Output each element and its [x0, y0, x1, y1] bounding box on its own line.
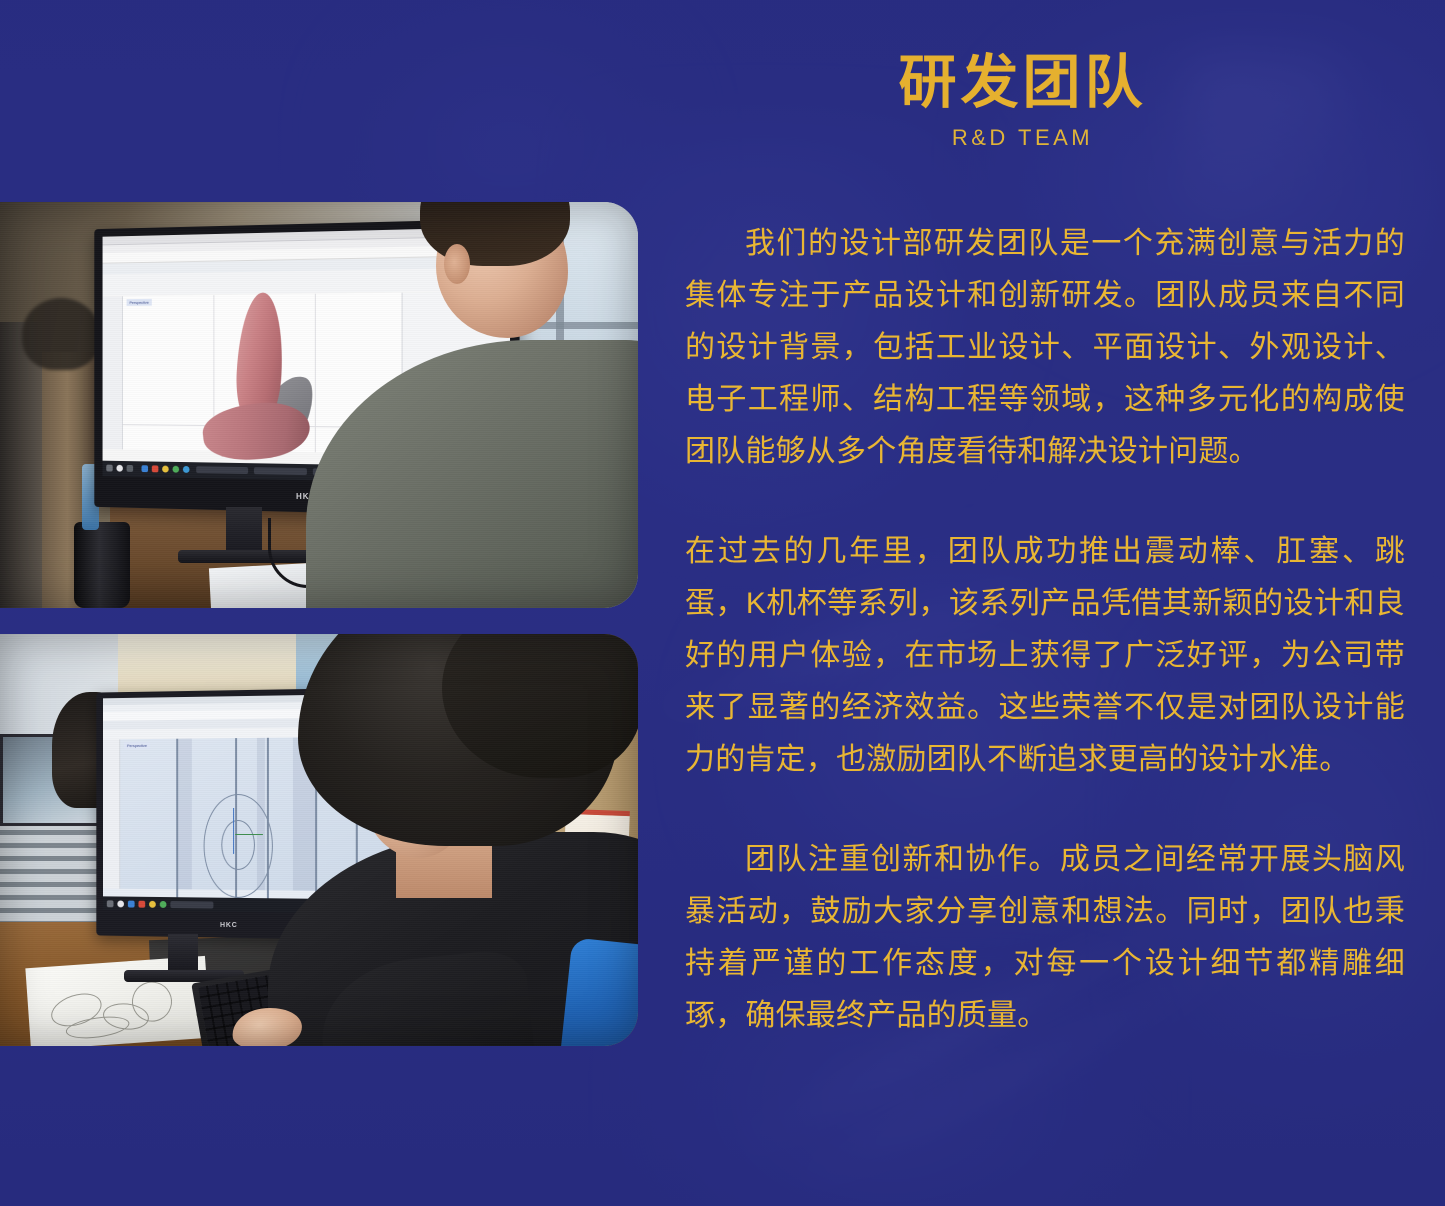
page-title: 研发团队 [660, 52, 1385, 115]
content-column: 研发团队 R&D TEAM 我们的设计部研发团队是一个充满创意与活力的集体专注于… [660, 0, 1445, 1206]
photo-designer-cad-3d-model: Perspective [0, 202, 638, 608]
person-bottom-photo [276, 634, 638, 1046]
paragraph-1: 我们的设计部研发团队是一个充满创意与活力的集体专注于产品设计和创新研发。团队成员… [685, 218, 1405, 478]
person-top-photo [326, 202, 638, 608]
page-subtitle: R&D TEAM [660, 125, 1385, 151]
heading-block: 研发团队 R&D TEAM [660, 52, 1385, 151]
paragraph-3: 团队注重创新和协作。成员之间经常开展头脑风暴活动，鼓励大家分享创意和想法。同时，… [685, 834, 1405, 1042]
viewport-label: Perspective [124, 742, 150, 749]
body-copy: 我们的设计部研发团队是一个充满创意与活力的集体专注于产品设计和创新研发。团队成员… [685, 218, 1405, 1042]
3d-product-model [201, 292, 318, 461]
monitor-brand-label: HKC [220, 922, 238, 929]
page-root: Perspective [0, 0, 1445, 1206]
paragraph-2: 在过去的几年里，团队成功推出震动棒、肛塞、跳蛋，K机杯等系列，该系列产品凭借其新… [685, 526, 1405, 786]
photo-designer-typing-wireframe: Perspective [0, 634, 638, 1046]
viewport-label: Perspective [127, 299, 152, 306]
